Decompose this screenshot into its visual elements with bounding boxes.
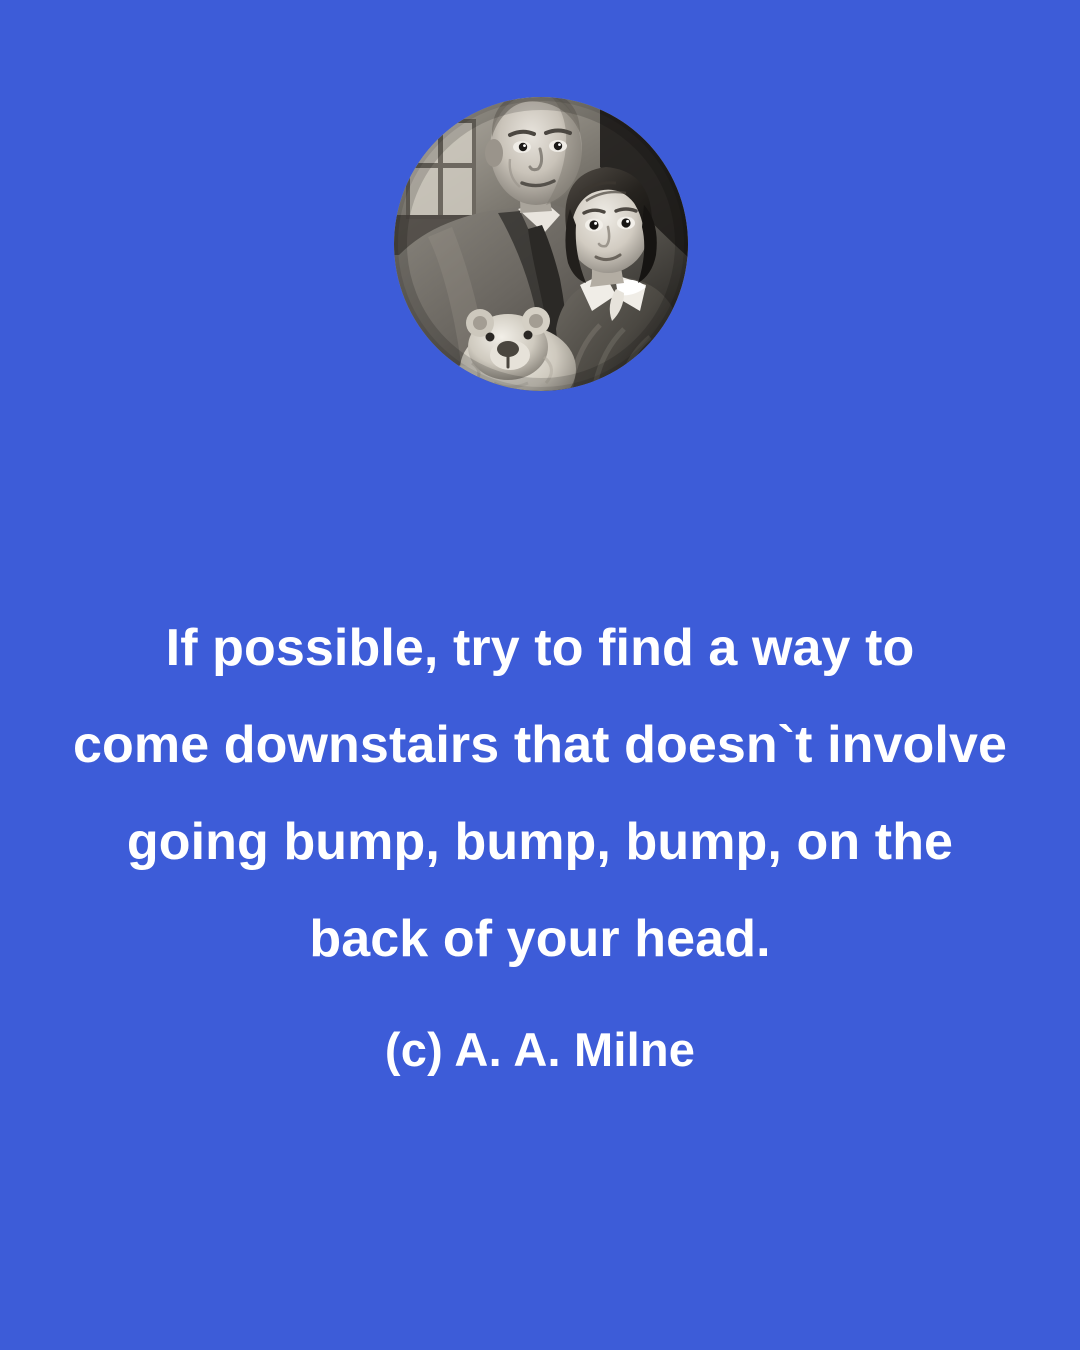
quote-line-3: going bump, bump, bump, on the [0, 794, 1080, 891]
circular-portrait-photo [394, 97, 688, 391]
quote-text: If possible, try to find a way to come d… [0, 600, 1080, 988]
quote-line-1: If possible, try to find a way to [0, 600, 1080, 697]
quote-attribution: (c) A. A. Milne [0, 1018, 1080, 1082]
quote-line-2: come downstairs that doesn`t involve [0, 697, 1080, 794]
quote-card: If possible, try to find a way to come d… [0, 0, 1080, 1350]
portrait-container [394, 97, 688, 391]
quote-line-4: back of your head. [0, 891, 1080, 988]
